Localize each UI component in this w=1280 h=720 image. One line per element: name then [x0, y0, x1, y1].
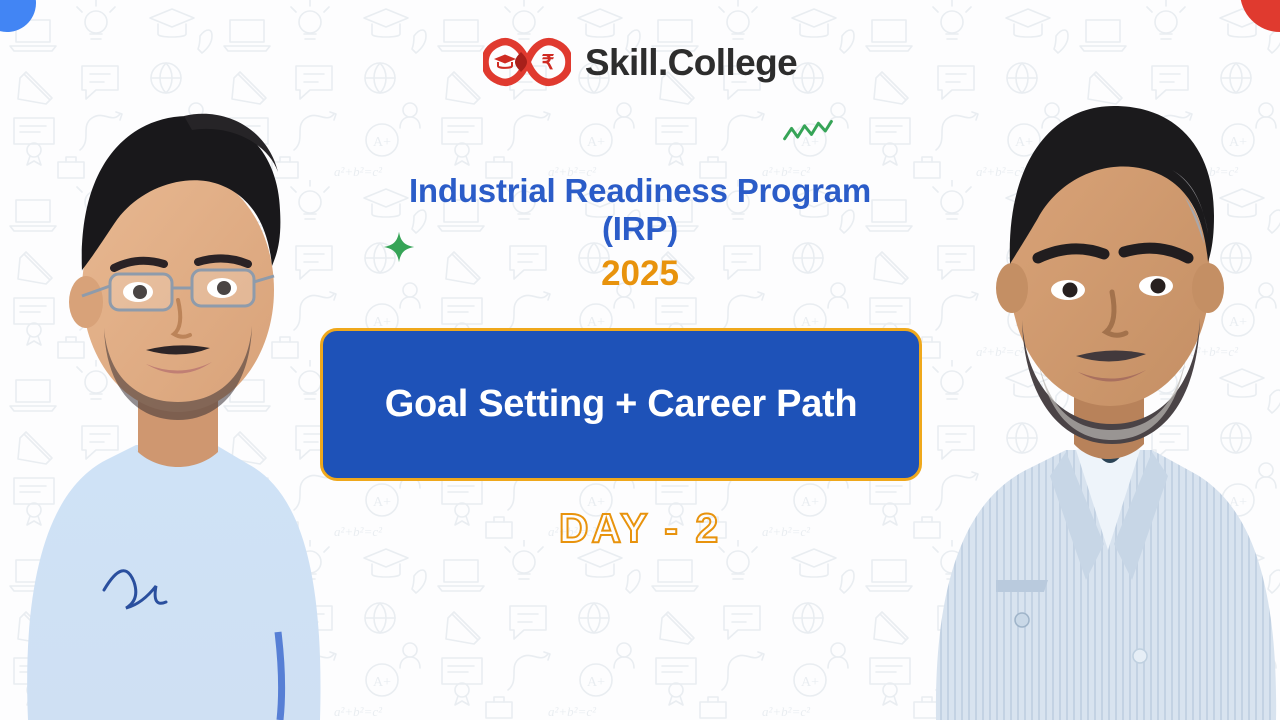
session-topic-text: Goal Setting + Career Path	[385, 384, 858, 426]
presenter-photo-right	[926, 20, 1280, 720]
green-zigzag-squiggle-icon	[782, 118, 834, 144]
session-topic-banner: Goal Setting + Career Path	[320, 328, 922, 481]
green-sparkle-star-icon	[383, 231, 415, 263]
day-label-text: DAY - 2	[559, 505, 721, 552]
logo-wordmark: Skill.College	[585, 44, 797, 81]
presenter-photo-left	[0, 20, 346, 720]
corner-accent-blue	[0, 0, 40, 36]
svg-text:₹: ₹	[542, 52, 555, 74]
brand-logo: ₹ Skill.College	[0, 36, 1280, 88]
program-title-line1: Industrial Readiness Program	[0, 172, 1280, 210]
infinity-graduation-rupee-logo-icon: ₹	[483, 36, 571, 88]
program-year: 2025	[0, 255, 1280, 294]
corner-accent-red	[1240, 0, 1280, 32]
day-label: DAY - 2	[0, 505, 1280, 552]
webinar-thumbnail: A+ a²+b²=c²	[0, 0, 1280, 720]
program-title-line2: (IRP)	[0, 210, 1280, 248]
program-title-block: Industrial Readiness Program (IRP) 2025	[0, 172, 1280, 293]
